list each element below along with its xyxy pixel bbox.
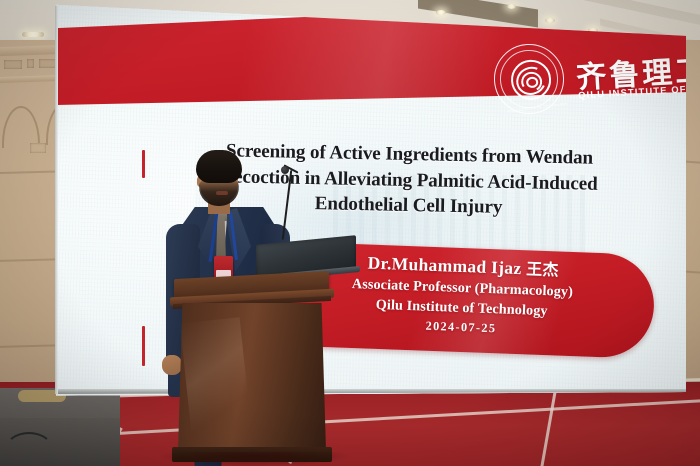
qilu-institute-seal-icon: QILU INSTITUTE OF TECHNOLOGY	[492, 42, 566, 116]
podium-shadow	[160, 452, 350, 466]
downlight-icon	[436, 10, 446, 15]
downlight-icon	[22, 32, 44, 37]
conference-presentation-photo: QILU INSTITUTE OF TECHNOLOGY 齐鲁理工学院 QILU…	[0, 0, 700, 466]
speaker-name-chinese: 王杰	[526, 259, 559, 279]
screen-left-bezel	[55, 6, 58, 394]
slide-accent-mark	[142, 150, 145, 178]
downlight-icon	[507, 4, 516, 9]
downlight-icon	[545, 18, 555, 23]
podium-highlight	[180, 317, 252, 443]
floor-grey-edge	[0, 388, 120, 466]
led-presentation-screen: QILU INSTITUTE OF TECHNOLOGY 齐鲁理工学院 QILU…	[56, 0, 686, 398]
speaker-name: Dr.Muhammad Ijaz	[367, 253, 522, 279]
cable	[4, 432, 54, 466]
slide-accent-mark	[142, 326, 145, 366]
microphone-icon	[281, 166, 289, 174]
